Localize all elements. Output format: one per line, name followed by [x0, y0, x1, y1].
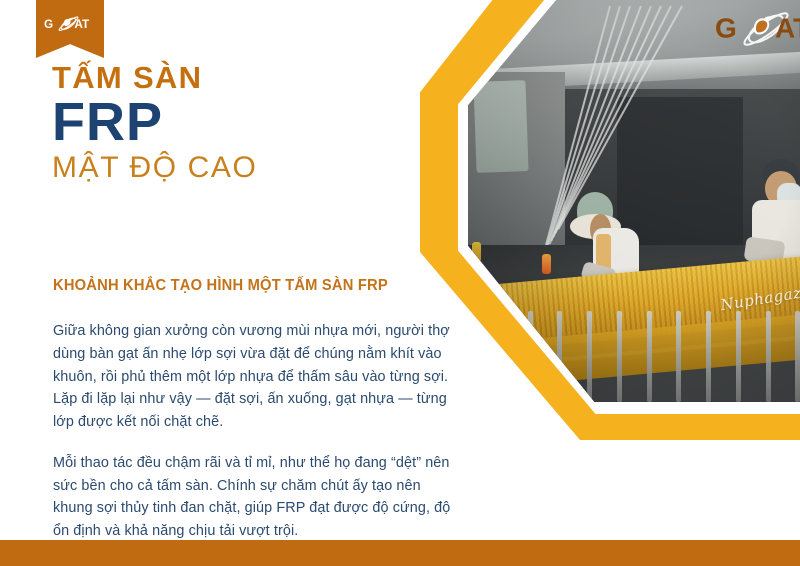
svg-text:AT: AT — [775, 13, 800, 44]
body-copy: Giữa không gian xưởng còn vương mùi nhựa… — [53, 320, 458, 561]
footer-bar — [0, 540, 800, 566]
title-line-2: FRP — [52, 95, 412, 150]
svg-text:G: G — [715, 13, 737, 44]
paragraph-1: Giữa không gian xưởng còn vương mùi nhựa… — [53, 320, 458, 434]
title-line-3: MẬT ĐỘ CAO — [52, 152, 412, 184]
svg-text:AT: AT — [74, 18, 90, 31]
goat-logo-icon: G AT — [43, 12, 97, 36]
goat-logo-watermark: G AT — [712, 6, 800, 52]
svg-text:G: G — [44, 18, 53, 31]
visual-panel: G AT Nuphagazine — [420, 0, 800, 440]
poster-title: TẤM SÀN FRP MẬT ĐỘ CAO — [52, 62, 412, 184]
section-heading: KHOẢNH KHẮC TẠO HÌNH MỘT TẤM SÀN FRP — [53, 277, 433, 296]
paragraph-2: Mỗi thao tác đều chậm rãi và tỉ mỉ, như … — [53, 452, 458, 543]
brand-ribbon: G AT — [36, 0, 104, 58]
title-line-1: TẤM SÀN — [52, 62, 412, 93]
poster-canvas: G AT Nuphagazine G AT — [0, 0, 800, 566]
